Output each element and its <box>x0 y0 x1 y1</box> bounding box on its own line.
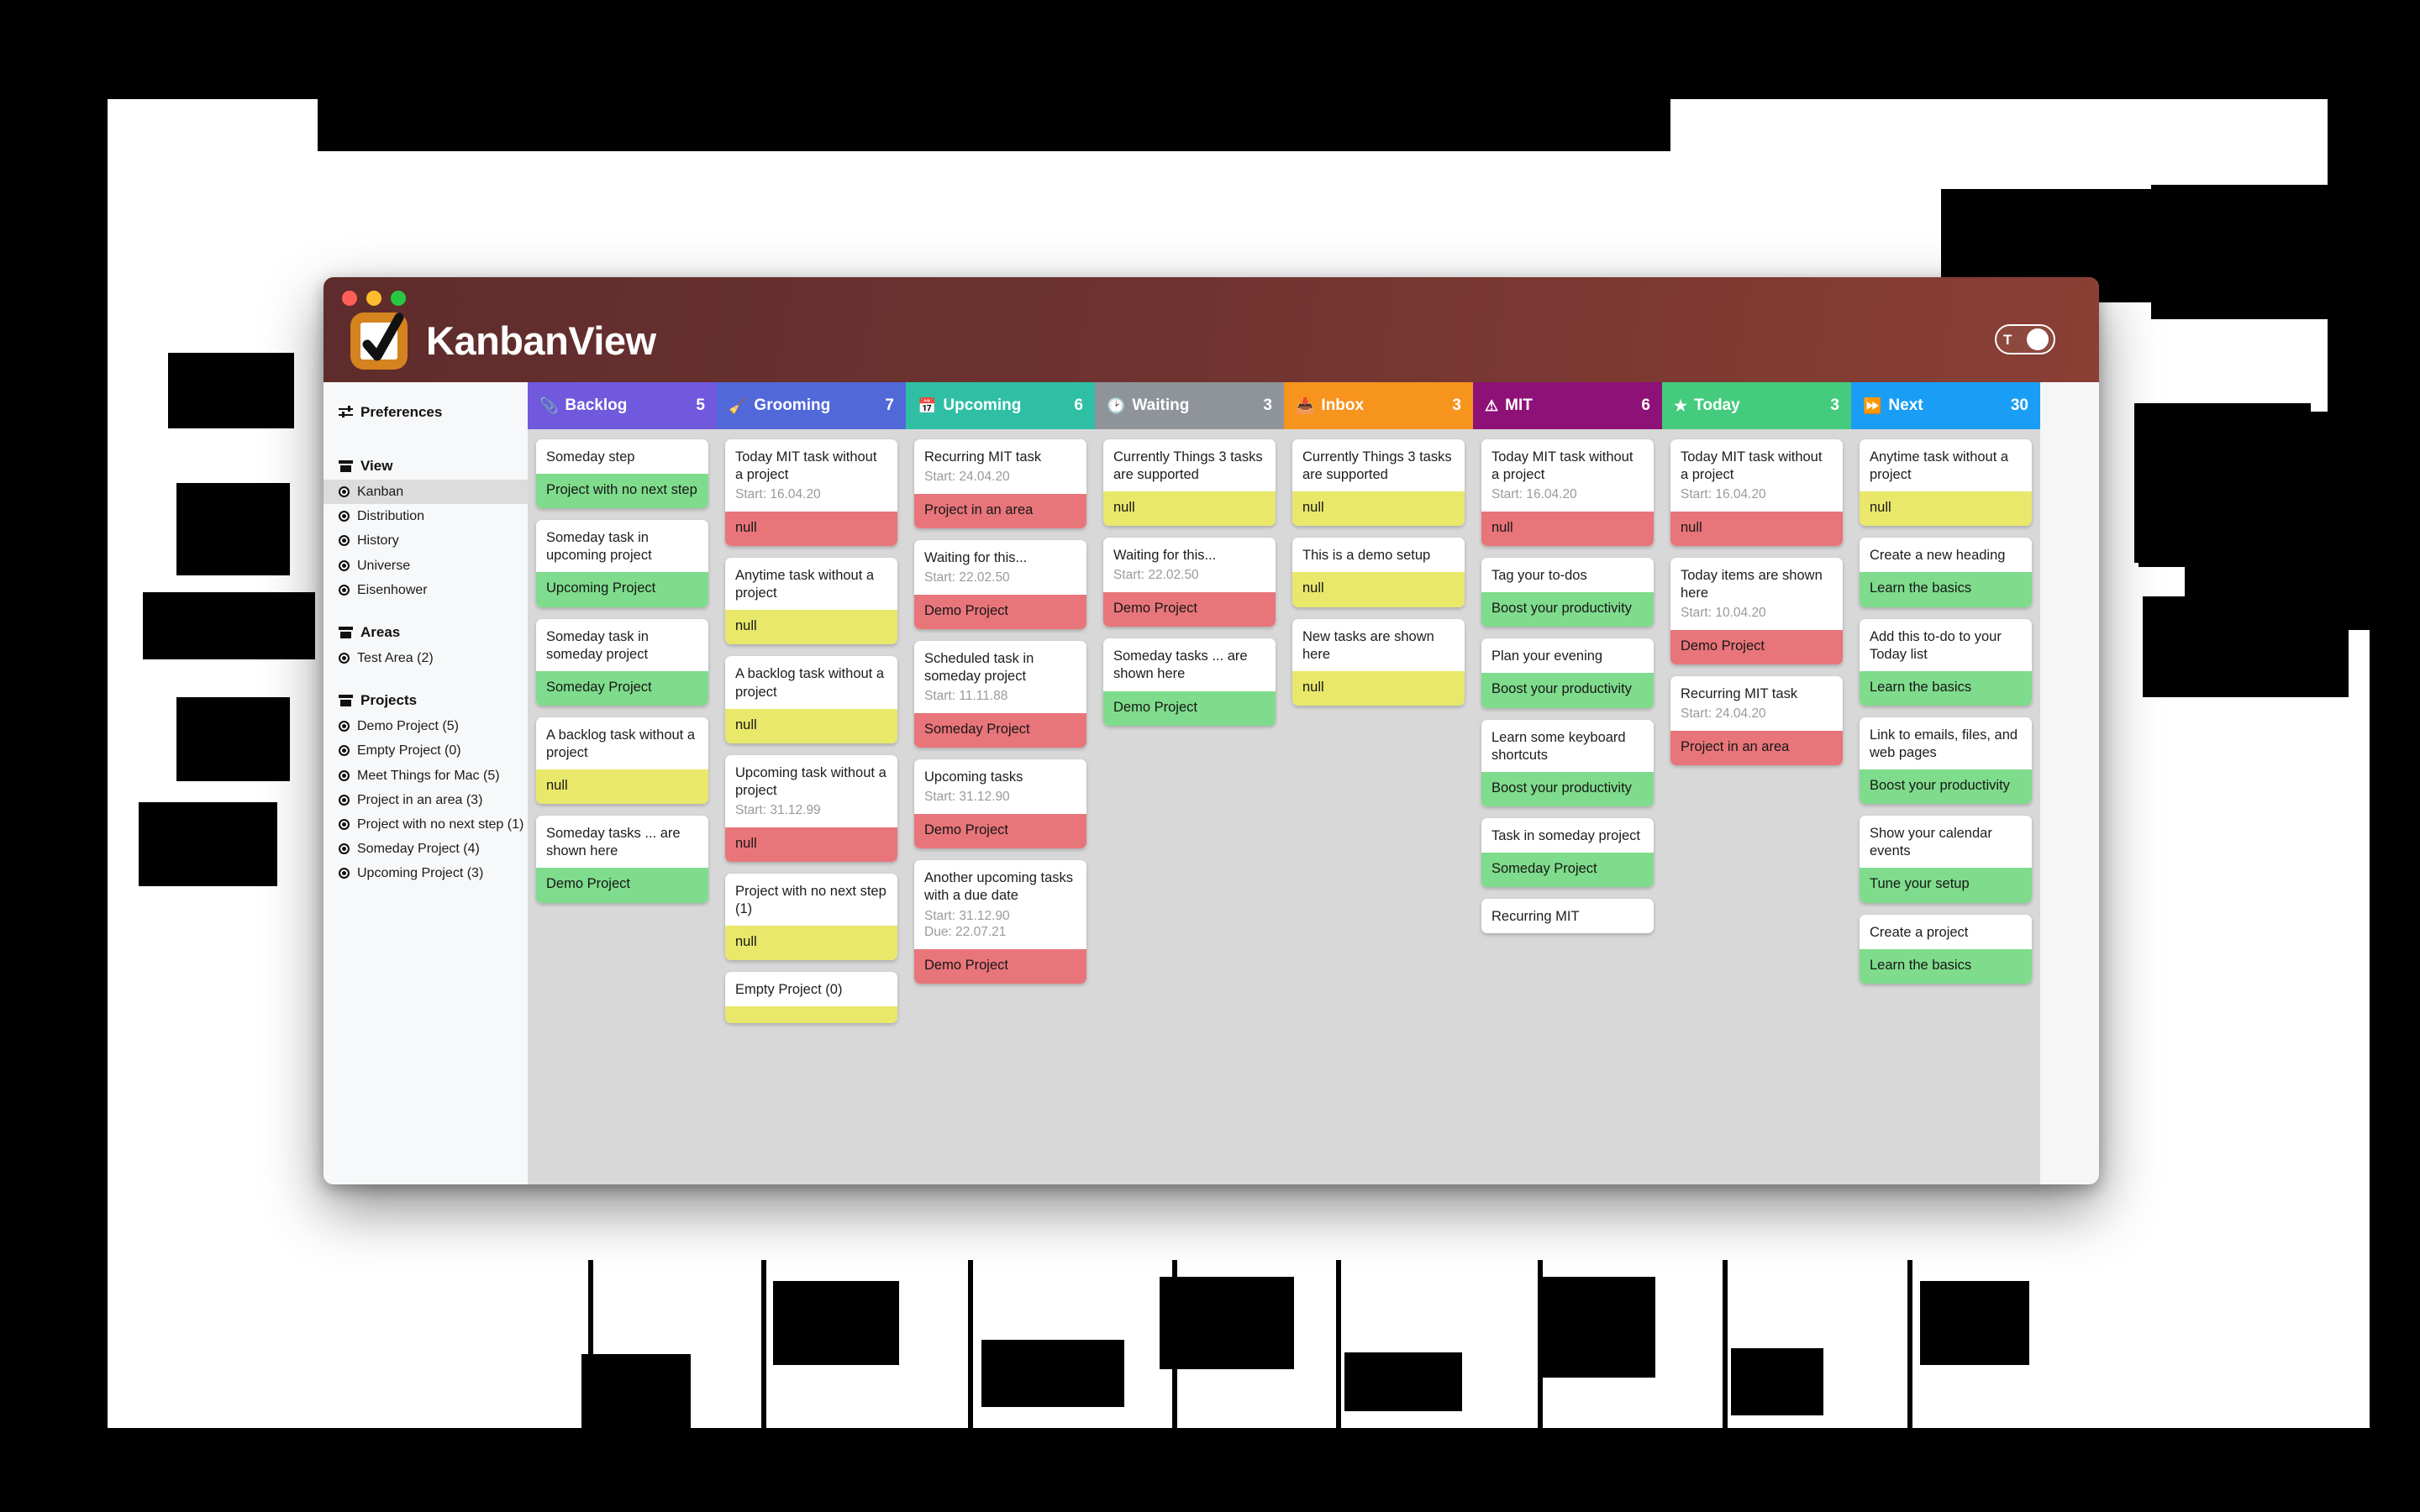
kanbanview-window: KanbanView T Preferences ViewKanbanDistr… <box>324 277 2099 1184</box>
task-title: Create a new heading <box>1860 538 2032 567</box>
task-title: This is a demo setup <box>1292 538 1465 567</box>
task-card[interactable]: Link to emails, files, and web pagesBoos… <box>1860 717 2032 804</box>
task-dates: Start: 16.04.20 <box>725 486 897 512</box>
board-column-waiting: 🕑Waiting3Currently Things 3 tasks are su… <box>1095 382 1284 1184</box>
task-title: Create a project <box>1860 915 2032 944</box>
task-card[interactable]: Project with no next step (1)null <box>725 874 897 960</box>
warning-triangle-icon: ⚠ <box>1485 398 1498 413</box>
task-project-tag: Upcoming Project <box>536 572 708 606</box>
redaction-block <box>2328 92 2420 630</box>
column-header-inbox[interactable]: 📥Inbox3 <box>1284 382 1473 429</box>
column-count: 6 <box>1074 396 1083 415</box>
column-cards[interactable]: Recurring MIT taskStart: 24.04.20Project… <box>906 429 1095 1184</box>
sidebar-item-label: Universe <box>357 556 410 575</box>
paperclip-icon: 📎 <box>539 398 558 413</box>
kanban-board[interactable]: 📎Backlog5Someday stepProject with no nex… <box>528 382 2099 1184</box>
archive-box-icon <box>339 460 353 472</box>
task-project-tag: null <box>1860 491 2032 526</box>
task-project-tag: null <box>725 709 897 743</box>
sidebar-group-view: ViewKanbanDistributionHistoryUniverseEis… <box>324 458 528 602</box>
task-card[interactable]: Show your calendar eventsTune your setup <box>1860 816 2032 902</box>
board-column-grooming: 🧹Grooming7Today MIT task without a proje… <box>717 382 906 1184</box>
sidebar-item-label: Test Area (2) <box>357 648 434 668</box>
task-card[interactable]: Today MIT task without a projectStart: 1… <box>725 439 897 546</box>
preferences-item[interactable]: Preferences <box>324 404 528 421</box>
screenshot-root: KanbanView T Preferences ViewKanbanDistr… <box>0 0 2420 1512</box>
window-titlebar: KanbanView T <box>324 277 2099 382</box>
board-column-next: ⏩Next30Anytime task without a projectnul… <box>1851 382 2040 1184</box>
sidebar-item-universe[interactable]: Universe <box>324 554 528 578</box>
task-project-tag: Learn the basics <box>1860 949 2032 984</box>
radio-icon <box>339 511 350 522</box>
column-name: Next <box>1888 396 2003 415</box>
redaction-block <box>773 1281 899 1365</box>
task-title: Scheduled task in someday project <box>914 641 1086 688</box>
task-title: Recurring MIT task <box>914 439 1086 469</box>
task-title: Waiting for this... <box>914 540 1086 570</box>
task-card[interactable]: Create a new headingLearn the basics <box>1860 538 2032 606</box>
sidebar-item-label: Project in an area (3) <box>357 790 482 810</box>
task-card[interactable]: Upcoming tasksStart: 31.12.90Demo Projec… <box>914 759 1086 848</box>
task-project-tag: null <box>725 610 897 644</box>
task-card[interactable]: New tasks are shown herenull <box>1292 619 1465 706</box>
theme-toggle[interactable]: T <box>1995 324 2055 354</box>
task-project-tag: null <box>725 512 897 546</box>
sidebar-item-history[interactable]: History <box>324 528 528 553</box>
task-title: Currently Things 3 tasks are supported <box>1292 439 1465 486</box>
task-card[interactable]: Currently Things 3 tasks are supportednu… <box>1103 439 1276 526</box>
task-title: Someday task in someday project <box>536 619 708 666</box>
task-project-tag <box>725 1006 897 1023</box>
task-card[interactable]: Someday stepProject with no next step <box>536 439 708 508</box>
task-card[interactable]: Plan your eveningBoost your productivity <box>1481 638 1654 707</box>
redaction-block <box>2185 189 2311 252</box>
minimize-button[interactable] <box>366 291 381 306</box>
column-count: 3 <box>1452 396 1461 415</box>
theme-toggle-label: T <box>2003 333 2012 347</box>
radio-icon <box>339 819 350 830</box>
task-dates: Start: 24.04.20 <box>1670 706 1843 731</box>
task-card[interactable]: Add this to-do to your Today listLearn t… <box>1860 619 2032 706</box>
sidebar-item-test-area-2[interactable]: Test Area (2) <box>324 646 528 670</box>
task-project-tag: Demo Project <box>536 868 708 902</box>
redaction-block <box>1731 1348 1823 1415</box>
sidebar-item-distribution[interactable]: Distribution <box>324 504 528 528</box>
task-card[interactable]: Today MIT task without a projectStart: 1… <box>1670 439 1843 546</box>
sidebar-item-empty-project-0[interactable]: Empty Project (0) <box>324 738 528 763</box>
task-card[interactable]: A backlog task without a projectnull <box>536 717 708 804</box>
redaction-block <box>1538 1277 1655 1378</box>
task-card[interactable]: Today items are shown hereStart: 10.04.2… <box>1670 558 1843 664</box>
task-card[interactable]: Currently Things 3 tasks are supportednu… <box>1292 439 1465 526</box>
task-project-tag: Learn the basics <box>1860 572 2032 606</box>
task-project-tag: null <box>1481 512 1654 546</box>
sidebar-heading-label: Projects <box>360 692 417 709</box>
task-dates: Start: 16.04.20 <box>1481 486 1654 512</box>
task-dates: Start: 24.04.20 <box>914 469 1086 494</box>
column-header-upcoming[interactable]: 📅Upcoming6 <box>906 382 1095 429</box>
task-title: Anytime task without a project <box>725 558 897 605</box>
radio-icon <box>339 745 350 756</box>
sidebar-heading: Projects <box>324 692 528 709</box>
task-title: Someday step <box>536 439 708 469</box>
column-header-waiting[interactable]: 🕑Waiting3 <box>1095 382 1284 429</box>
sidebar-group-areas: AreasTest Area (2) <box>324 624 528 670</box>
task-project-tag: null <box>1292 491 1465 526</box>
sidebar-item-demo-project-5[interactable]: Demo Project (5) <box>324 714 528 738</box>
task-card[interactable]: Recurring MIT taskStart: 24.04.20Project… <box>1670 676 1843 765</box>
column-name: MIT <box>1505 396 1634 415</box>
sidebar-item-kanban[interactable]: Kanban <box>324 480 528 504</box>
task-project-tag: Boost your productivity <box>1860 769 2032 804</box>
task-title: Upcoming tasks <box>914 759 1086 789</box>
task-title: Task in someday project <box>1481 818 1654 848</box>
app-title: KanbanView <box>426 318 656 364</box>
redaction-block <box>1160 1277 1294 1369</box>
task-dates: Start: 31.12.90 <box>914 789 1086 814</box>
task-project-tag: Boost your productivity <box>1481 592 1654 627</box>
redaction-block <box>318 99 1670 151</box>
broom-icon: 🧹 <box>729 398 747 413</box>
radio-icon <box>339 721 350 732</box>
task-title: Today MIT task without a project <box>725 439 897 486</box>
task-card[interactable]: Tag your to-dosBoost your productivity <box>1481 558 1654 627</box>
sidebar-item-label: History <box>357 531 399 550</box>
column-cards[interactable]: Currently Things 3 tasks are supportednu… <box>1284 429 1473 1184</box>
column-cards[interactable]: Today MIT task without a projectStart: 1… <box>1662 429 1851 1184</box>
radio-icon <box>339 843 350 854</box>
sidebar-heading: View <box>324 458 528 475</box>
sidebar-heading-label: Areas <box>360 624 400 641</box>
column-count: 5 <box>696 396 705 415</box>
column-cards[interactable]: Someday stepProject with no next stepSom… <box>528 429 717 1184</box>
sidebar-item-label: Distribution <box>357 507 424 526</box>
radio-icon <box>339 535 350 546</box>
task-card[interactable]: Someday tasks ... are shown hereDemo Pro… <box>536 816 708 902</box>
task-card[interactable]: Recurring MIT <box>1481 899 1654 933</box>
sidebar-item-eisenhower[interactable]: Eisenhower <box>324 578 528 602</box>
task-dates: Start: 16.04.20 <box>1670 486 1843 512</box>
task-project-tag: null <box>1670 512 1843 546</box>
app-brand: KanbanView <box>350 312 656 370</box>
board-column-backlog: 📎Backlog5Someday stepProject with no nex… <box>528 382 717 1184</box>
task-card[interactable]: Someday tasks ... are shown hereDemo Pro… <box>1103 638 1276 725</box>
redaction-block <box>0 92 108 1428</box>
task-title: Another upcoming tasks with a due date <box>914 860 1086 907</box>
calendar-icon: 📅 <box>918 398 936 413</box>
task-dates: Start: 11.11.88 <box>914 688 1086 713</box>
task-card[interactable]: A backlog task without a projectnull <box>725 656 897 743</box>
task-title: Empty Project (0) <box>725 972 897 1001</box>
column-name: Waiting <box>1132 396 1256 415</box>
task-project-tag: Demo Project <box>1103 691 1276 726</box>
redaction-block <box>176 483 290 575</box>
redaction-block <box>581 1354 691 1446</box>
redaction-block <box>176 697 290 781</box>
task-card[interactable]: Learn some keyboard shortcutsBoost your … <box>1481 720 1654 806</box>
sidebar-item-label: Project with no next step (1) <box>357 815 523 834</box>
task-card[interactable]: Empty Project (0) <box>725 972 897 1023</box>
task-project-tag: Someday Project <box>914 713 1086 748</box>
column-cards[interactable]: Anytime task without a projectnullCreate… <box>1851 429 2040 1184</box>
radio-icon <box>339 770 350 781</box>
task-project-tag: Tune your setup <box>1860 868 2032 902</box>
redaction-block <box>2185 525 2336 626</box>
checkbox-check-icon <box>350 312 408 370</box>
board-column-inbox: 📥Inbox3Currently Things 3 tasks are supp… <box>1284 382 1473 1184</box>
sidebar-heading: Areas <box>324 624 528 641</box>
task-project-tag: Demo Project <box>914 595 1086 629</box>
task-spacer <box>1481 928 1654 933</box>
redaction-block <box>139 802 277 886</box>
task-card[interactable]: Anytime task without a projectnull <box>1860 439 2032 526</box>
maximize-button[interactable] <box>391 291 406 306</box>
close-button[interactable] <box>342 291 357 306</box>
column-name: Grooming <box>754 396 878 415</box>
task-project-tag: null <box>1292 572 1465 606</box>
task-card[interactable]: Someday task in upcoming projectUpcoming… <box>536 520 708 606</box>
redaction-block <box>0 0 2420 99</box>
task-project-tag: null <box>1292 671 1465 706</box>
sidebar-item-label: Demo Project (5) <box>357 717 459 736</box>
task-title: Someday task in upcoming project <box>536 520 708 567</box>
task-card[interactable]: Task in someday projectSomeday Project <box>1481 818 1654 887</box>
star-icon: ★ <box>1674 398 1687 413</box>
window-controls[interactable] <box>342 291 406 306</box>
task-project-tag: Project in an area <box>1670 731 1843 765</box>
column-header-grooming[interactable]: 🧹Grooming7 <box>717 382 906 429</box>
task-title: Add this to-do to your Today list <box>1860 619 2032 666</box>
column-header-backlog[interactable]: 📎Backlog5 <box>528 382 717 429</box>
task-title: Learn some keyboard shortcuts <box>1481 720 1654 767</box>
task-project-tag: null <box>725 827 897 862</box>
column-count: 30 <box>2011 396 2028 415</box>
column-count: 3 <box>1830 396 1839 415</box>
task-title: Upcoming task without a project <box>725 755 897 802</box>
task-title: Today MIT task without a project <box>1481 439 1654 486</box>
archive-box-icon <box>339 695 353 706</box>
sidebar-item-project-with-no-next-step-1[interactable]: Project with no next step (1) <box>324 812 528 837</box>
sidebar-item-label: Meet Things for Mac (5) <box>357 766 500 785</box>
task-card[interactable]: Today MIT task without a projectStart: 1… <box>1481 439 1654 546</box>
task-card[interactable]: This is a demo setupnull <box>1292 538 1465 606</box>
task-project-tag: Learn the basics <box>1860 671 2032 706</box>
task-project-tag: null <box>536 769 708 804</box>
task-project-tag: Demo Project <box>914 814 1086 848</box>
task-title: Link to emails, files, and web pages <box>1860 717 2032 764</box>
task-project-tag: null <box>1103 491 1276 526</box>
redaction-block <box>981 1340 1124 1407</box>
task-title: New tasks are shown here <box>1292 619 1465 666</box>
task-title: Today MIT task without a project <box>1670 439 1843 486</box>
task-title: Show your calendar events <box>1860 816 2032 863</box>
redaction-block <box>168 353 294 428</box>
sidebar-item-meet-things-for-mac-5[interactable]: Meet Things for Mac (5) <box>324 764 528 788</box>
sidebar-item-project-in-an-area-3[interactable]: Project in an area (3) <box>324 788 528 812</box>
redaction-block <box>1920 1281 2029 1365</box>
task-title: Today items are shown here <box>1670 558 1843 605</box>
preferences-label: Preferences <box>360 404 442 421</box>
column-cards[interactable]: Today MIT task without a projectStart: 1… <box>1473 429 1662 1184</box>
sidebar-item-label: Someday Project (4) <box>357 839 480 858</box>
task-title: Waiting for this... <box>1103 538 1276 567</box>
task-project-tag: Demo Project <box>1103 592 1276 627</box>
task-card[interactable]: Another upcoming tasks with a due dateSt… <box>914 860 1086 984</box>
task-dates: Start: 31.12.90Due: 22.07.21 <box>914 908 1086 950</box>
task-project-tag: Someday Project <box>536 671 708 706</box>
column-header-today[interactable]: ★Today3 <box>1662 382 1851 429</box>
task-card[interactable]: Recurring MIT taskStart: 24.04.20Project… <box>914 439 1086 528</box>
task-dates: Start: 22.02.50 <box>1103 567 1276 592</box>
task-card[interactable]: Someday task in someday projectSomeday P… <box>536 619 708 706</box>
column-name: Inbox <box>1321 396 1445 415</box>
task-project-tag: Demo Project <box>914 949 1086 984</box>
radio-icon <box>339 560 350 571</box>
window-body: Preferences ViewKanbanDistributionHistor… <box>324 382 2099 1184</box>
task-title: Someday tasks ... are shown here <box>1103 638 1276 685</box>
task-project-tag: null <box>725 926 897 960</box>
board-column-today: ★Today3Today MIT task without a projectS… <box>1662 382 1851 1184</box>
column-name: Today <box>1694 396 1823 415</box>
radio-icon <box>339 868 350 879</box>
task-dates: Start: 10.04.20 <box>1670 605 1843 630</box>
sidebar-item-label: Eisenhower <box>357 580 428 600</box>
sliders-icon <box>339 407 353 418</box>
redaction-block <box>0 1453 2420 1512</box>
task-title: Tag your to-dos <box>1481 558 1654 587</box>
task-title: Someday tasks ... are shown here <box>536 816 708 863</box>
sidebar: Preferences ViewKanbanDistributionHistor… <box>324 382 528 1184</box>
task-title: A backlog task without a project <box>725 656 897 703</box>
sidebar-item-someday-project-4[interactable]: Someday Project (4) <box>324 837 528 861</box>
task-card[interactable]: Create a projectLearn the basics <box>1860 915 2032 984</box>
redaction-block <box>143 592 315 659</box>
task-project-tag: Demo Project <box>1670 630 1843 664</box>
theme-toggle-knob <box>2027 328 2049 350</box>
column-cards[interactable]: Currently Things 3 tasks are supportednu… <box>1095 429 1284 1184</box>
task-project-tag: Boost your productivity <box>1481 673 1654 707</box>
task-card[interactable]: Anytime task without a projectnull <box>725 558 897 644</box>
column-count: 6 <box>1641 396 1650 415</box>
task-card[interactable]: Waiting for this...Start: 22.02.50Demo P… <box>914 540 1086 629</box>
task-title: Project with no next step (1) <box>725 874 897 921</box>
redaction-block <box>1344 1352 1462 1411</box>
column-name: Upcoming <box>943 396 1067 415</box>
task-dates: Start: 22.02.50 <box>914 570 1086 595</box>
sidebar-item-label: Empty Project (0) <box>357 741 461 760</box>
task-project-tag: Someday Project <box>1481 853 1654 887</box>
column-header-mit[interactable]: ⚠MIT6 <box>1473 382 1662 429</box>
task-title: Recurring MIT task <box>1670 676 1843 706</box>
task-card[interactable]: Waiting for this...Start: 22.02.50Demo P… <box>1103 538 1276 627</box>
task-dates: Start: 31.12.99 <box>725 802 897 827</box>
inbox-icon: 📥 <box>1296 398 1314 413</box>
radio-icon <box>339 486 350 497</box>
task-project-tag: Project in an area <box>914 494 1086 528</box>
board-column-upcoming: 📅Upcoming6Recurring MIT taskStart: 24.04… <box>906 382 1095 1184</box>
sidebar-item-label: Upcoming Project (3) <box>357 864 483 883</box>
sidebar-item-label: Kanban <box>357 482 403 501</box>
task-title: Currently Things 3 tasks are supported <box>1103 439 1276 486</box>
archive-box-icon <box>339 627 353 638</box>
clock-icon: 🕑 <box>1107 398 1125 413</box>
task-project-tag: Boost your productivity <box>1481 772 1654 806</box>
column-header-next[interactable]: ⏩Next30 <box>1851 382 2040 429</box>
task-project-tag: Project with no next step <box>536 474 708 508</box>
radio-icon <box>339 653 350 664</box>
column-name: Backlog <box>565 396 689 415</box>
column-count: 7 <box>885 396 894 415</box>
task-card[interactable]: Scheduled task in someday projectStart: … <box>914 641 1086 748</box>
radio-icon <box>339 585 350 596</box>
task-card[interactable]: Upcoming task without a projectStart: 31… <box>725 755 897 862</box>
task-title: Plan your evening <box>1481 638 1654 668</box>
task-title: Recurring MIT <box>1481 899 1654 928</box>
task-title: A backlog task without a project <box>536 717 708 764</box>
column-cards[interactable]: Today MIT task without a projectStart: 1… <box>717 429 906 1184</box>
task-title: Anytime task without a project <box>1860 439 2032 486</box>
sidebar-heading-label: View <box>360 458 392 475</box>
radio-icon <box>339 795 350 806</box>
sidebar-item-upcoming-project-3[interactable]: Upcoming Project (3) <box>324 861 528 885</box>
fast-forward-icon: ⏩ <box>1863 398 1881 413</box>
sidebar-group-projects: ProjectsDemo Project (5)Empty Project (0… <box>324 692 528 885</box>
board-column-mit: ⚠MIT6Today MIT task without a projectSta… <box>1473 382 1662 1184</box>
column-count: 3 <box>1263 396 1272 415</box>
